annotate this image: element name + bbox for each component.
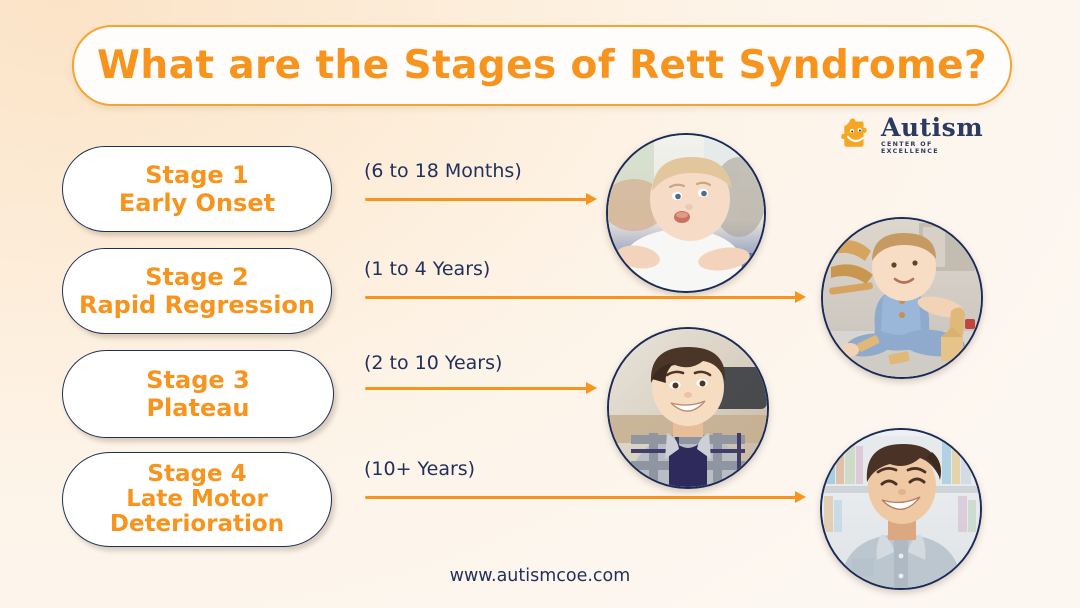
logo-tagline: CENTER OF EXCELLENCE [881, 142, 990, 155]
stage-4-number: Stage 4 [147, 462, 246, 487]
title-banner: What are the Stages of Rett Syndrome? [72, 25, 1012, 106]
footer-url[interactable]: www.autismcoe.com [0, 566, 1080, 586]
stage-1-name: Early Onset [119, 189, 275, 217]
logo-name: Autism [881, 115, 990, 140]
brand-logo[interactable]: Autism CENTER OF EXCELLENCE [838, 113, 990, 157]
puzzle-smiley-icon [838, 117, 874, 153]
stage-2-name: Rapid Regression [79, 291, 315, 319]
stage-3-number: Stage 3 [146, 366, 249, 394]
stage-4-age-label: (10+ Years) [364, 458, 475, 480]
stage-2-number: Stage 2 [145, 263, 248, 291]
stage-3-age-label: (2 to 10 Years) [364, 352, 502, 374]
stage-card-1[interactable]: Stage 1 Early Onset [62, 146, 332, 232]
stage-2-arrow [365, 291, 806, 303]
stage-card-3[interactable]: Stage 3 Plateau [62, 350, 334, 438]
logo-wordmark: Autism CENTER OF EXCELLENCE [881, 115, 990, 155]
stage-4-name-line2: Deterioration [110, 512, 284, 537]
stage-3-name: Plateau [146, 394, 249, 422]
page-title: What are the Stages of Rett Syndrome? [97, 43, 987, 88]
stage-1-age-label: (6 to 18 Months) [364, 160, 522, 182]
infographic-canvas: What are the Stages of Rett Syndrome? Au… [0, 0, 1080, 608]
stage-1-arrow [365, 193, 597, 205]
stage-card-4[interactable]: Stage 4 Late Motor Deterioration [62, 452, 332, 547]
stage-4-name: Late Motor [126, 487, 268, 512]
stage-4-arrow [365, 491, 806, 503]
stage-2-age-label: (1 to 4 Years) [364, 258, 490, 280]
stage-2-photo [821, 217, 983, 379]
stage-1-photo [606, 133, 766, 293]
stage-card-2[interactable]: Stage 2 Rapid Regression [62, 248, 332, 334]
stage-3-arrow [365, 382, 597, 394]
stage-1-number: Stage 1 [145, 161, 248, 189]
stage-3-photo [607, 327, 769, 489]
